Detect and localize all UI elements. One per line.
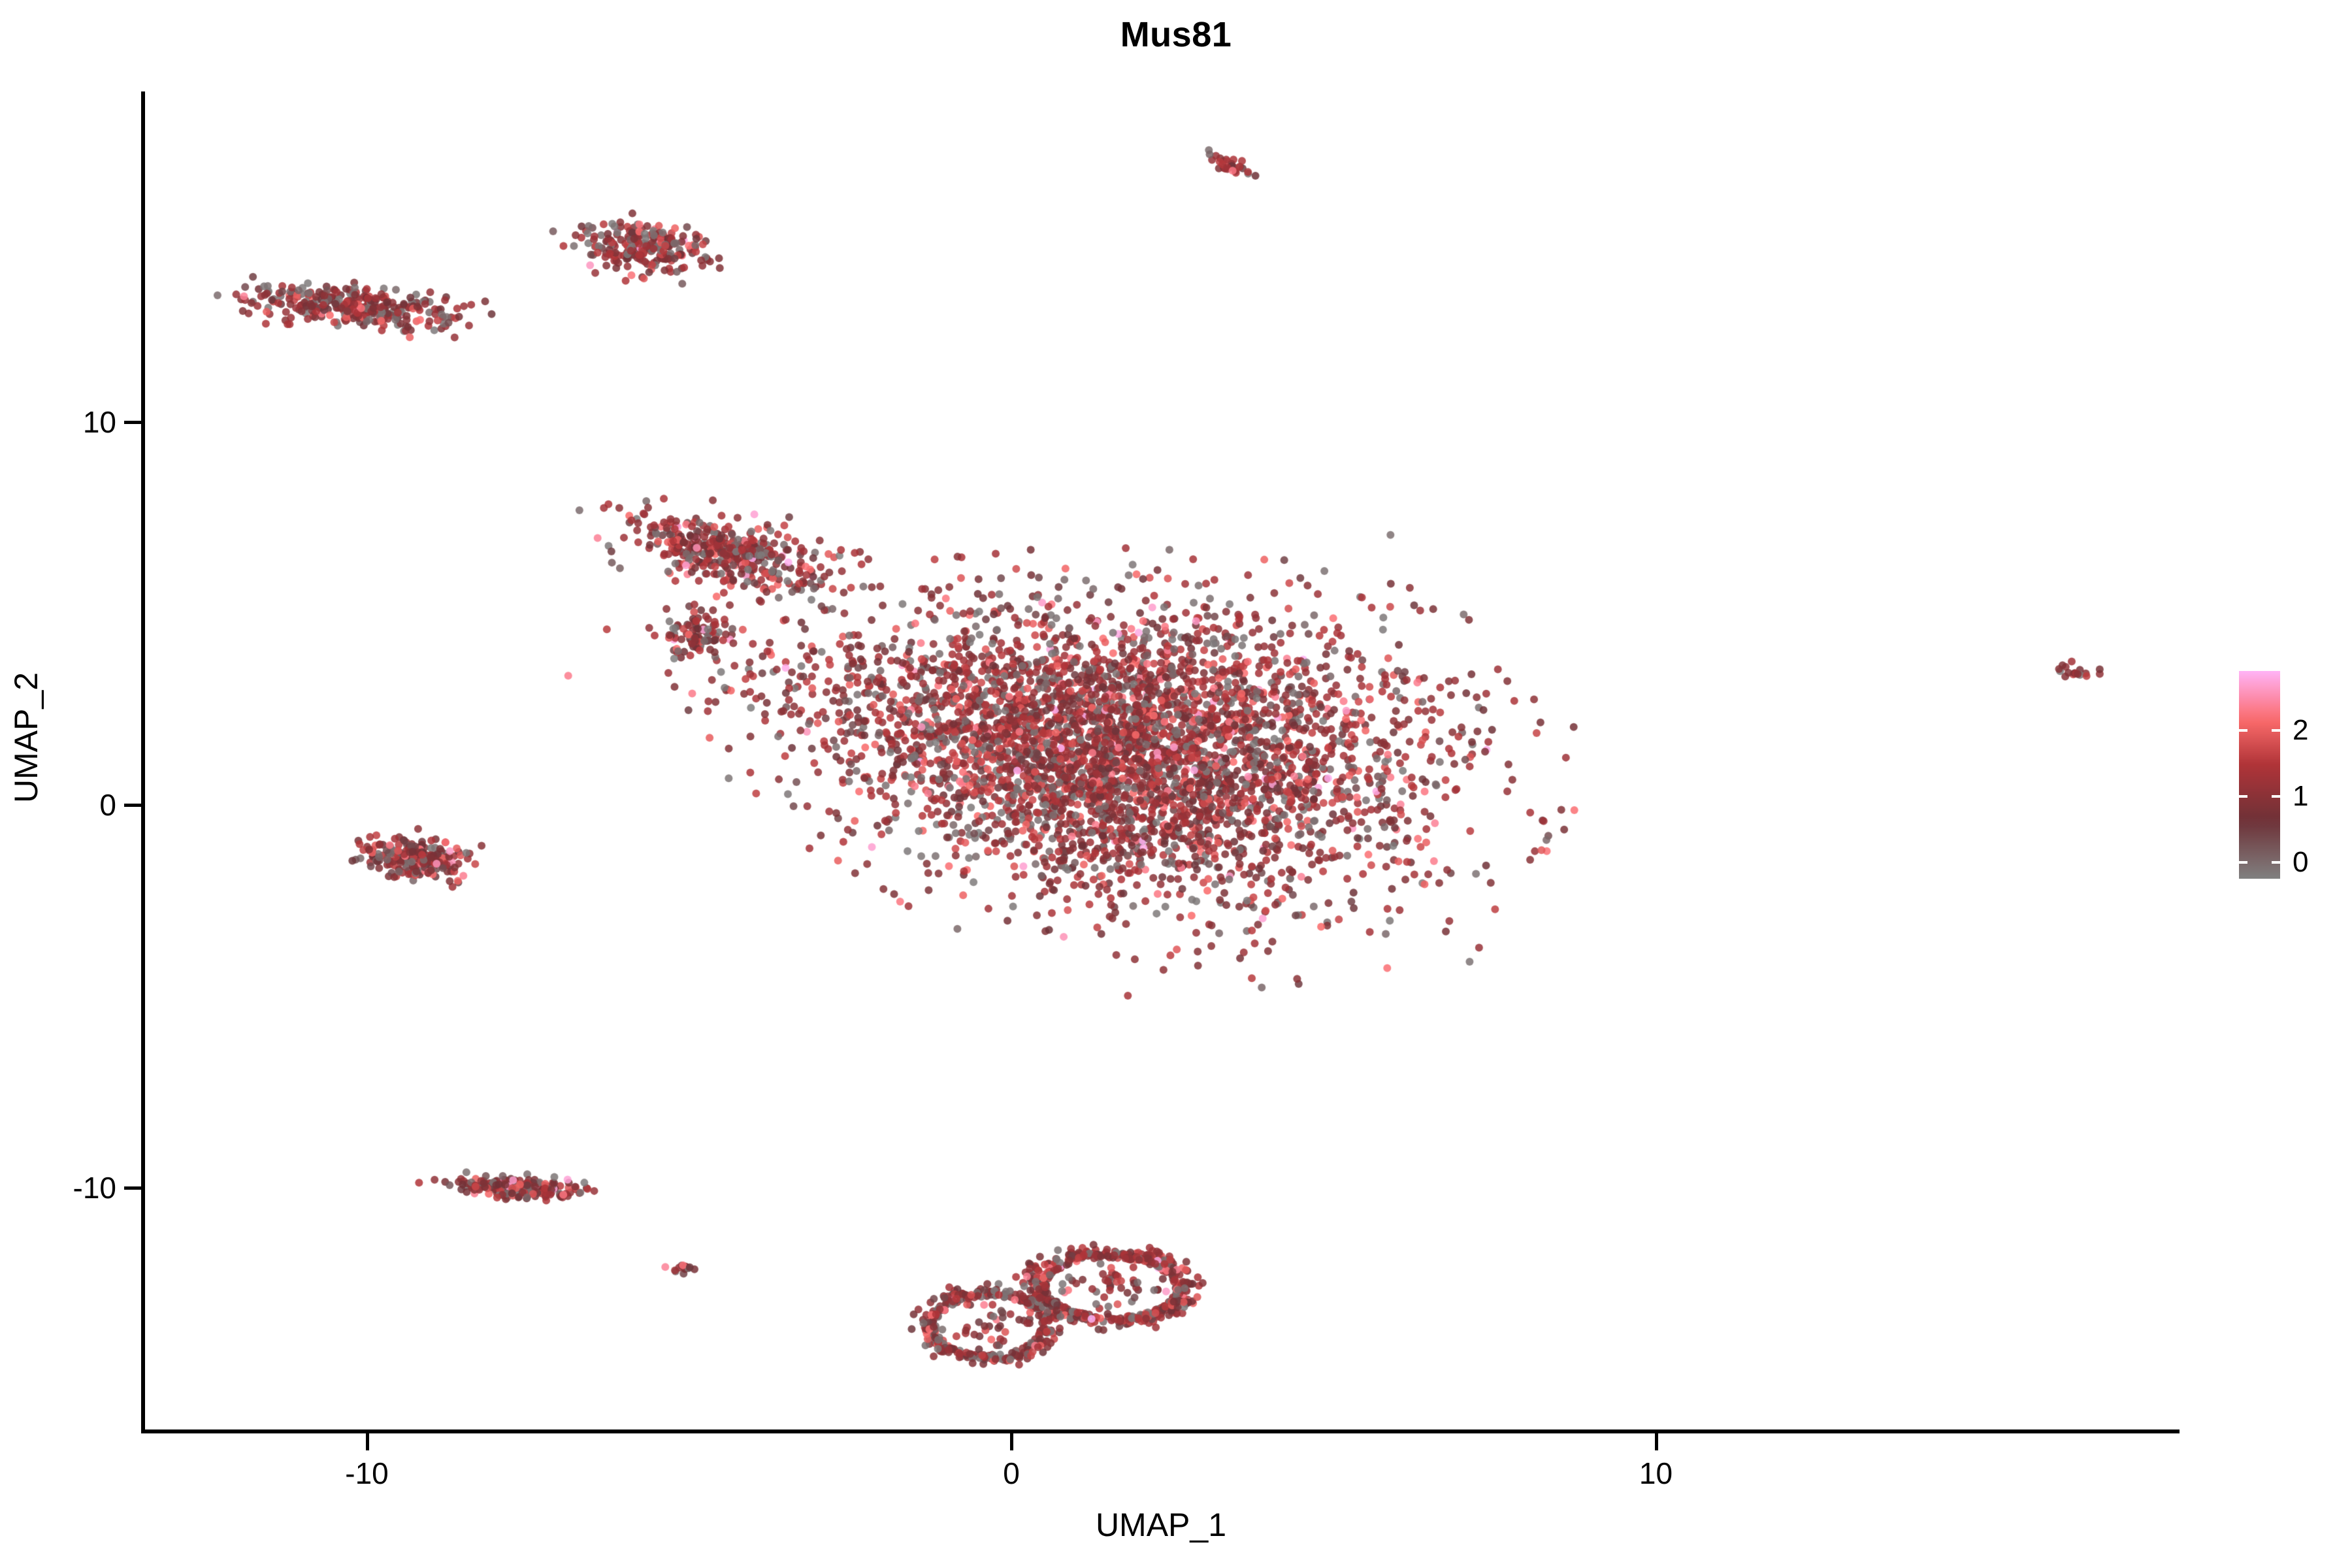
colorbar-gradient [2239, 671, 2280, 879]
umap-feature-plot: Mus81 -10010 -10010 UMAP_1 UMAP_2 012 [0, 0, 2352, 1568]
y-tick-mark [124, 421, 141, 424]
y-axis-line [141, 91, 145, 1432]
x-tick-mark [1655, 1433, 1658, 1450]
x-tick-mark [1010, 1433, 1013, 1450]
colorbar-tick-label: 2 [2293, 714, 2308, 747]
colorbar-tick-label: 1 [2293, 780, 2308, 813]
colorbar-tick-mark [2272, 795, 2280, 798]
y-axis-title: UMAP_2 [7, 476, 45, 999]
page-title: Mus81 [0, 14, 2352, 55]
colorbar-tick-mark [2272, 729, 2280, 732]
x-tick-label: 0 [1003, 1456, 1020, 1491]
y-tick-label: 10 [83, 404, 116, 440]
colorbar-legend: 012 [2239, 671, 2352, 880]
y-tick-mark [124, 1186, 141, 1190]
scatter-canvas [145, 91, 2177, 1431]
x-axis-line [141, 1429, 2180, 1433]
x-tick-label: 10 [1639, 1456, 1673, 1491]
y-tick-mark [124, 804, 141, 807]
colorbar-tick-mark [2272, 861, 2280, 864]
colorbar-tick-mark [2239, 861, 2247, 864]
colorbar-tick-mark [2239, 729, 2247, 732]
colorbar-tick-mark [2239, 795, 2247, 798]
colorbar-tick-label: 0 [2293, 846, 2308, 879]
y-tick-label: -10 [73, 1170, 116, 1205]
x-tick-label: -10 [345, 1456, 388, 1491]
plot-panel [145, 91, 2177, 1431]
y-tick-label: 0 [99, 787, 116, 823]
x-tick-mark [366, 1433, 369, 1450]
x-axis-title: UMAP_1 [145, 1506, 2177, 1544]
